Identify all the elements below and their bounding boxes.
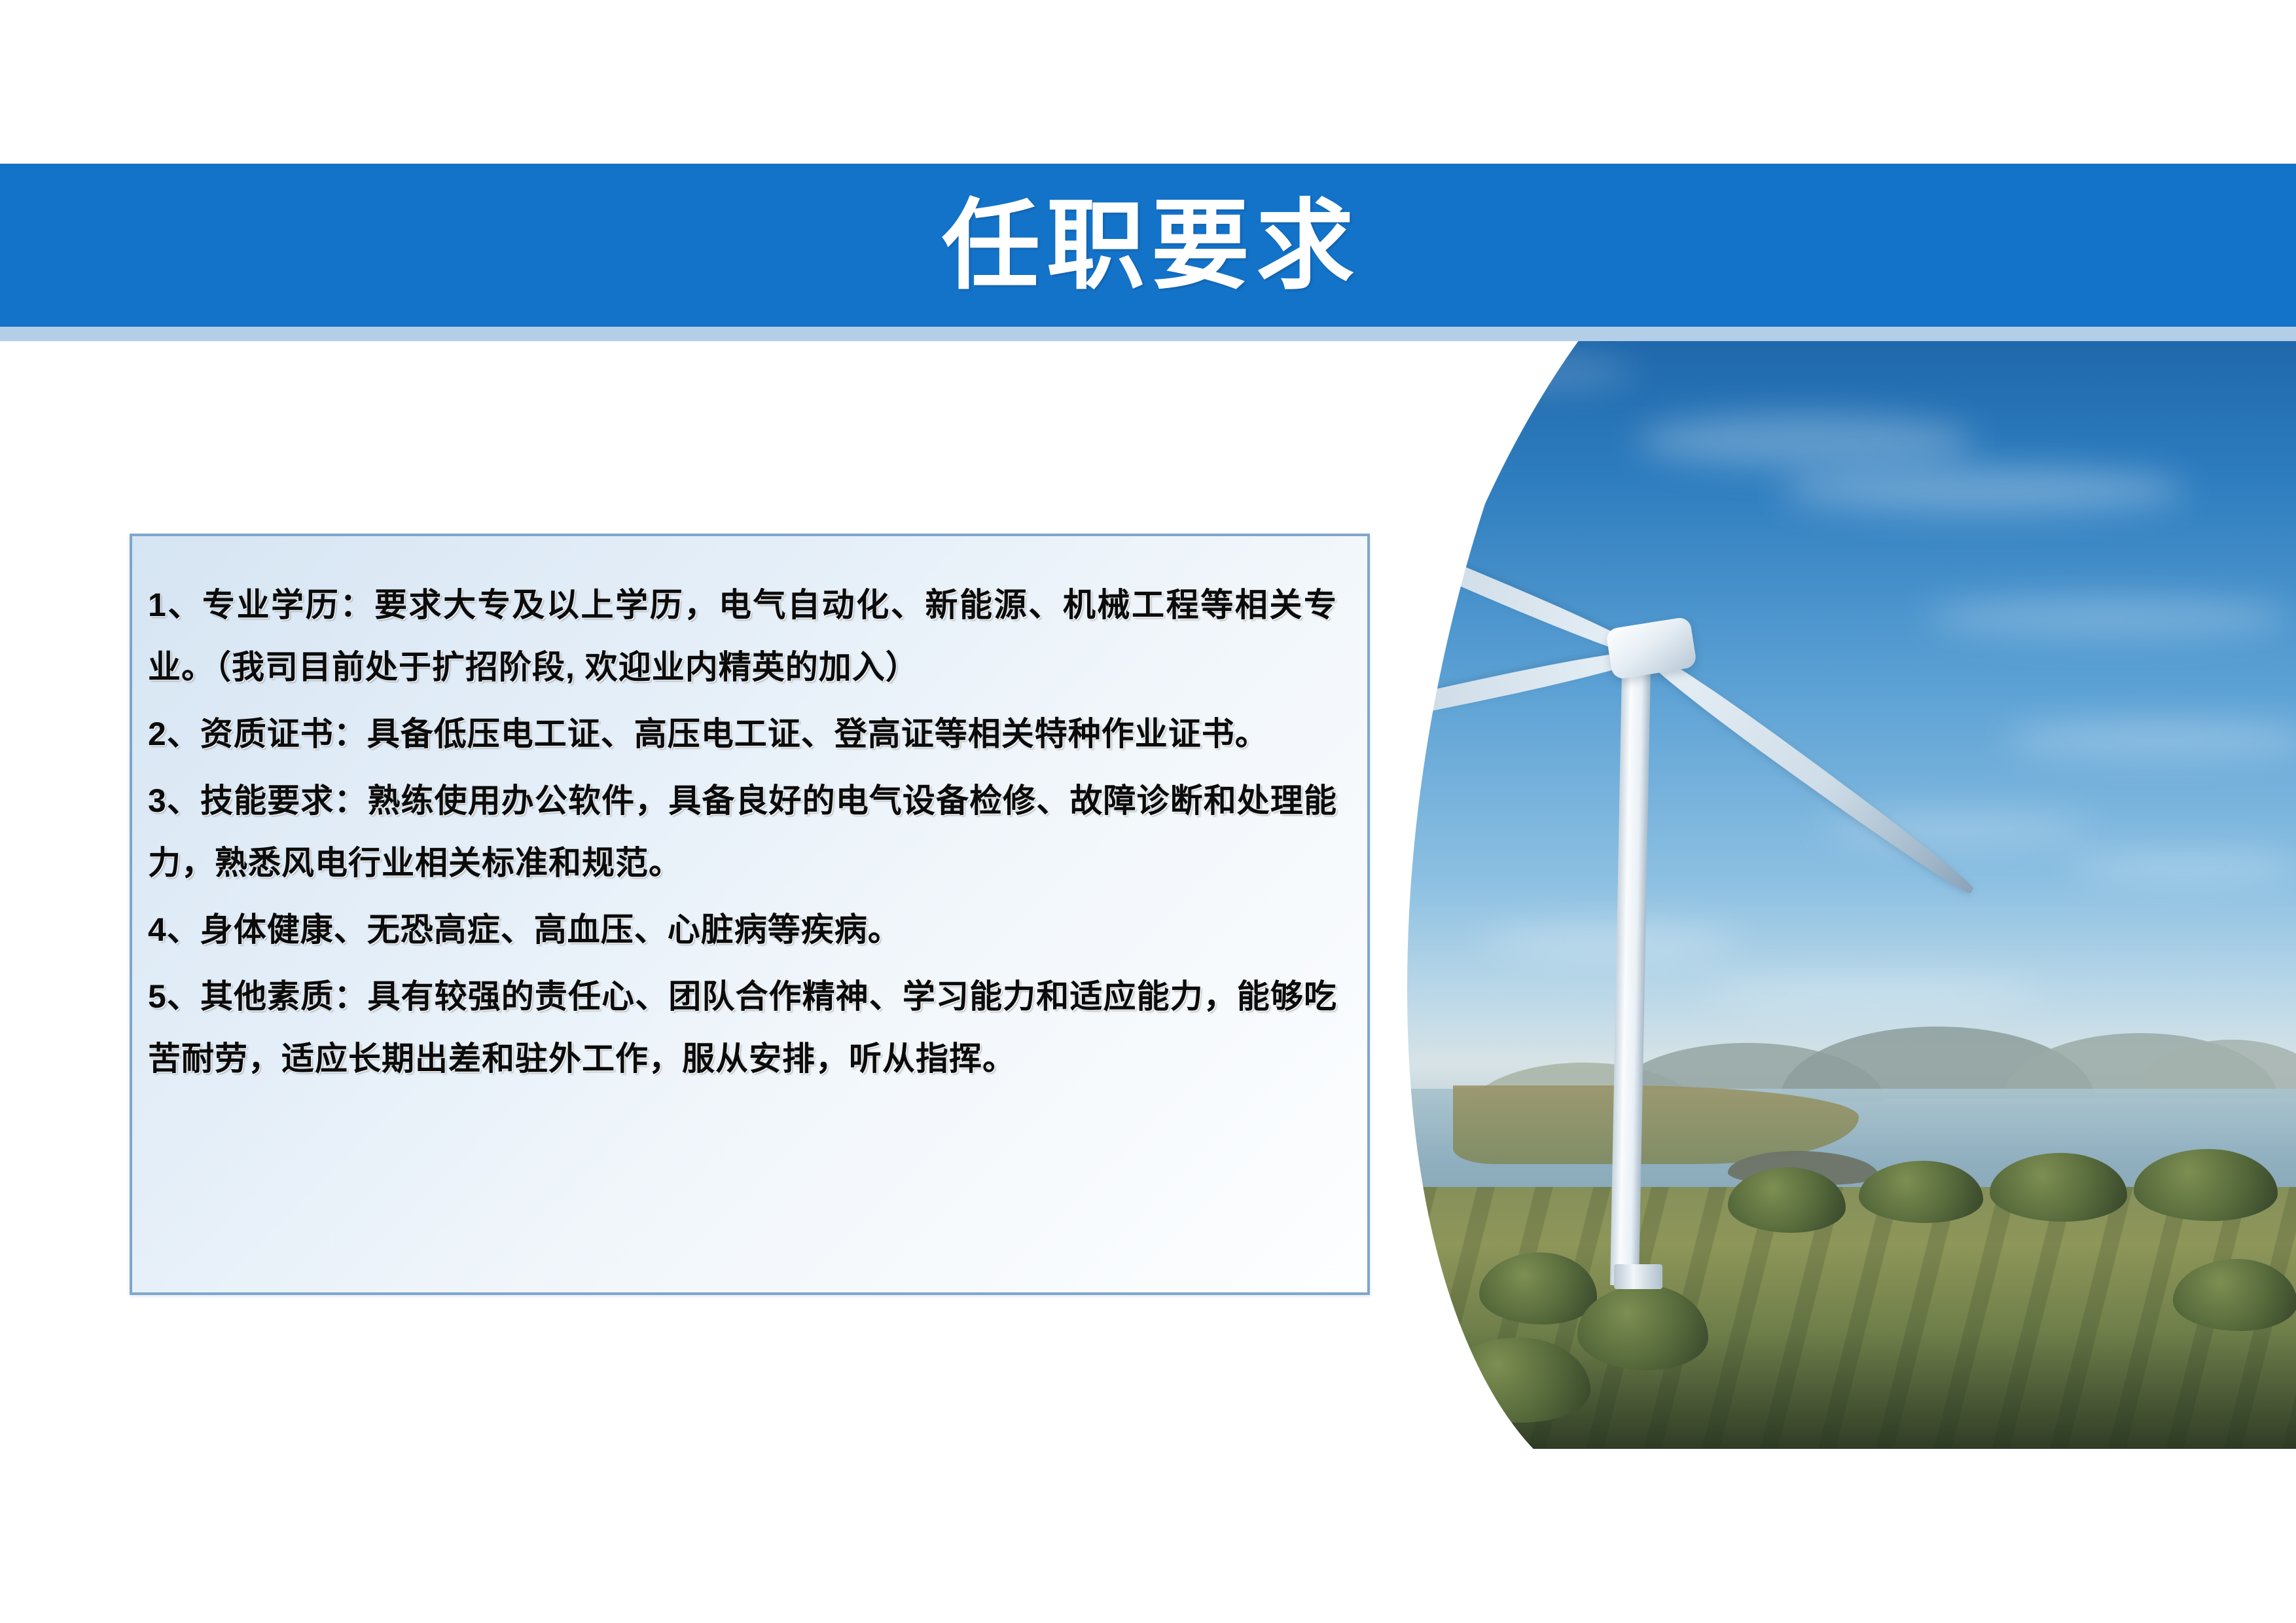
list-item: 3、技能要求：熟练使用办公软件，具备良好的电气设备检修、故障诊断和处理能力，熟悉… bbox=[148, 770, 1337, 894]
list-item: 4、身体健康、无恐高症、高血压、心脏病等疾病。 bbox=[148, 899, 1337, 961]
cloud-icon bbox=[2068, 853, 2296, 879]
turbine-base bbox=[1614, 1264, 1662, 1289]
cloud-icon bbox=[1636, 414, 1977, 467]
header-underline bbox=[0, 327, 2296, 341]
cloud-icon bbox=[1702, 977, 2042, 1008]
list-item: 1、专业学历：要求大专及以上学历，电气自动化、新能源、机械工程等相关专业。（我司… bbox=[148, 574, 1337, 699]
slide-canvas: 任职要求 1、专业学历：要求大专及以上学历，电气自动化、新能源、机械工程等相关专… bbox=[0, 0, 2296, 1623]
cloud-icon bbox=[1780, 467, 2186, 513]
turbine-photo bbox=[1361, 316, 2296, 1449]
list-item: 2、资质证书：具备低压电工证、高压电工证、登高证等相关特种作业证书。 bbox=[148, 703, 1337, 765]
list-item: 5、其他素质：具有较强的责任心、团队合作精神、学习能力和适应能力，能够吃苦耐劳，… bbox=[148, 966, 1337, 1090]
requirements-box: 1、专业学历：要求大专及以上学历，电气自动化、新能源、机械工程等相关专业。（我司… bbox=[130, 534, 1370, 1295]
cloud-icon bbox=[1924, 598, 2291, 637]
requirements-list: 1、专业学历：要求大专及以上学历，电气自动化、新能源、机械工程等相关专业。（我司… bbox=[148, 574, 1337, 1090]
cloud-icon bbox=[1479, 925, 1741, 958]
page-title: 任职要求 bbox=[0, 164, 2296, 327]
